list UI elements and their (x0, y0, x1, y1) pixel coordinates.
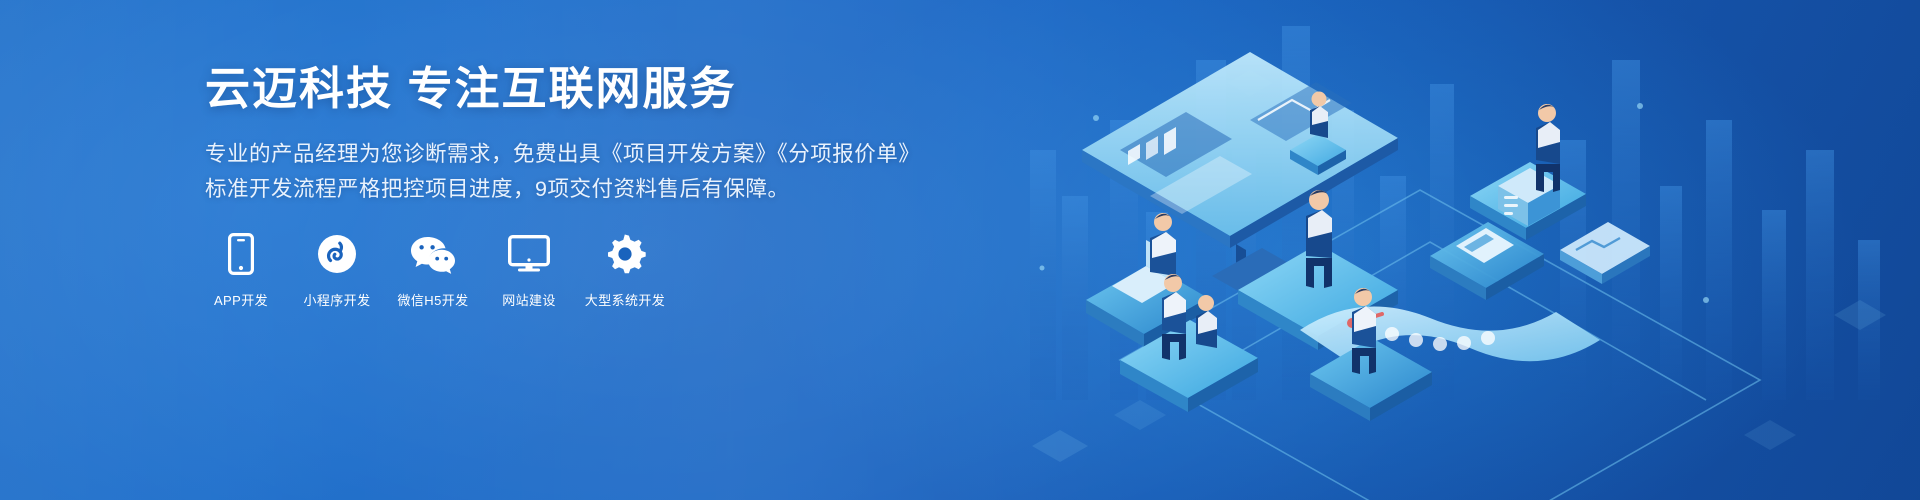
hero-subtitle-line-1: 专业的产品经理为您诊断需求，免费出具《项目开发方案》《分项报价单》 (205, 137, 925, 172)
hero-banner: 云迈科技 专注互联网服务 专业的产品经理为您诊断需求，免费出具《项目开发方案》《… (0, 0, 1920, 500)
hero-illustration (1000, 0, 1920, 500)
service-item-app[interactable]: APP开发 (205, 232, 277, 309)
mobile-phone-icon (228, 232, 254, 276)
service-item-large-system[interactable]: 大型系统开发 (589, 232, 661, 309)
service-item-wechat-h5[interactable]: 微信H5开发 (397, 232, 469, 309)
hero-subtitle-line-2: 标准开发流程严格把控项目进度，9项交付资料售后有保障。 (205, 172, 925, 207)
hero-text-block: 云迈科技 专注互联网服务 专业的产品经理为您诊断需求，免费出具《项目开发方案》《… (205, 62, 925, 207)
service-label-mini-program: 小程序开发 (303, 290, 370, 309)
service-item-mini-program[interactable]: 小程序开发 (301, 232, 373, 309)
gear-icon (604, 232, 646, 276)
wechat-icon (410, 232, 456, 276)
service-label-wechat-h5: 微信H5开发 (397, 290, 468, 309)
monitor-icon (508, 232, 550, 276)
hero-subtitle: 专业的产品经理为您诊断需求，免费出具《项目开发方案》《分项报价单》 标准开发流程… (205, 137, 925, 207)
service-label-website: 网站建设 (502, 290, 556, 309)
service-item-website[interactable]: 网站建设 (493, 232, 565, 309)
page-title: 云迈科技 专注互联网服务 (205, 62, 925, 115)
service-label-app: APP开发 (214, 290, 268, 309)
service-label-large-system: 大型系统开发 (585, 290, 665, 309)
mini-program-icon (317, 232, 357, 276)
service-icon-row: APP开发 小程序开发 (205, 232, 661, 309)
